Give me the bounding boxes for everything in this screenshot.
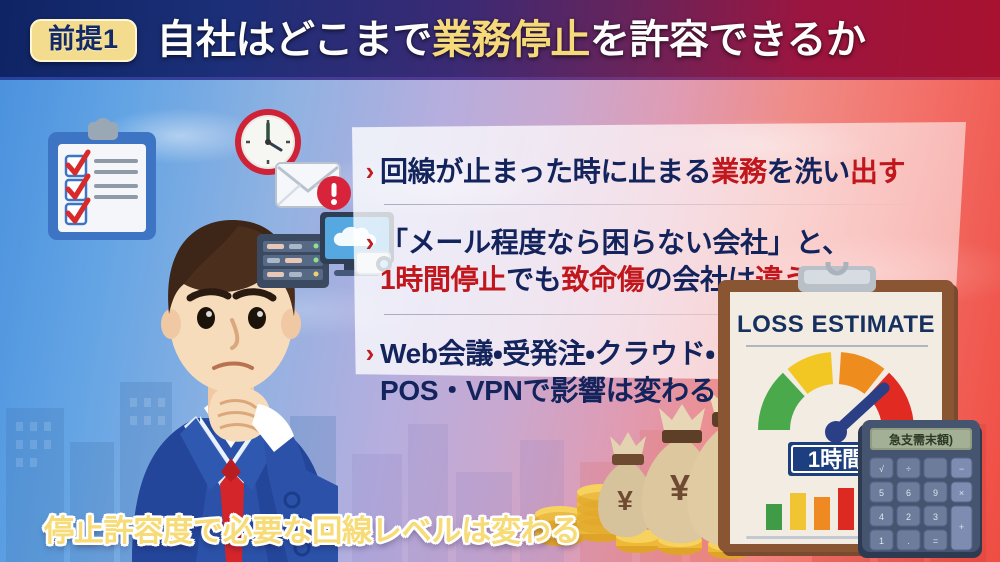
bullet-1-seg-4: 出す	[850, 156, 905, 187]
svg-text:×: ×	[959, 488, 964, 498]
svg-text:5: 5	[879, 488, 884, 498]
bullet-1-seg-1: 回線が止まった時に止まる	[380, 156, 711, 187]
slide-root: 前提1 自社はどこまで業務停止を許容できるか	[0, 0, 1000, 562]
calculator-display: 急支需末額)	[889, 432, 953, 447]
bullet-2-seg-1: 「メール程度なら困らない会社」と、	[380, 227, 850, 258]
page-title: 自社はどこまで業務停止を許容できるか	[157, 20, 866, 60]
svg-text:+: +	[959, 522, 964, 532]
bullet-2-line-1: 「メール程度なら困らない会社」と、	[380, 224, 850, 261]
bag-symbol-medium: ¥	[670, 467, 690, 508]
svg-text:−: −	[959, 464, 964, 474]
checklist-clipboard-icon	[42, 118, 164, 244]
header-bar: 前提1 自社はどこまで業務停止を許容できるか	[0, 0, 1000, 80]
bag-symbol-small: ¥	[617, 485, 633, 516]
header-step-badge: 前提1	[30, 19, 137, 62]
chevron-right-icon: ›	[360, 158, 380, 184]
bullet-3-seg-2: POS・VPNで影響は変わる	[380, 375, 717, 406]
bullet-3-line-1: Web会議・受発注・クラウド・	[380, 335, 717, 372]
calculator-illustration: 急支需末額) √÷ − 569× 423 1.= +	[856, 418, 986, 562]
page-title-part-3: を許容できるか	[590, 18, 866, 62]
bullet-item-1: › 回線が止まった時に止まる業務を洗い出す	[360, 153, 948, 190]
svg-text:4: 4	[879, 512, 884, 522]
clipboard-title: LOSS ESTIMATE	[737, 311, 935, 338]
bullet-divider-1	[384, 204, 934, 205]
svg-text:=: =	[933, 536, 938, 546]
bullet-2-seg-3: でも	[506, 264, 561, 295]
bullet-1-seg-3: を洗い	[767, 156, 850, 187]
bullet-item-1-text: 回線が止まった時に止まる業務を洗い出す	[380, 153, 905, 190]
page-title-part-2: 業務停止	[432, 18, 590, 62]
bullet-2-seg-2: 1時間停止	[380, 264, 506, 295]
svg-text:9: 9	[933, 488, 938, 498]
svg-text:2: 2	[906, 512, 911, 522]
svg-text:1: 1	[879, 536, 884, 546]
bullet-1-seg-2: 業務	[711, 156, 766, 187]
svg-text:.: .	[907, 536, 910, 546]
bullet-2-seg-4: 致命傷	[561, 264, 644, 295]
svg-text:÷: ÷	[906, 464, 911, 474]
bullet-3-line-2: POS・VPNで影響は変わる	[380, 372, 717, 409]
page-title-part-1: 自社はどこまで	[157, 18, 432, 62]
footer-caption: 停止許容度で必要な回線レベルは変わる	[44, 506, 580, 550]
svg-text:3: 3	[933, 512, 938, 522]
svg-text:√: √	[879, 464, 884, 474]
header-step-badge-label: 前提1	[48, 26, 119, 53]
chevron-right-icon: ›	[360, 340, 380, 366]
chevron-right-icon: ›	[360, 229, 380, 255]
bullet-3-seg-1: Web会議・受発注・クラウド・	[380, 338, 715, 369]
bullet-item-3-text: Web会議・受発注・クラウド・ POS・VPNで影響は変わる	[380, 335, 717, 409]
svg-text:6: 6	[906, 488, 911, 498]
